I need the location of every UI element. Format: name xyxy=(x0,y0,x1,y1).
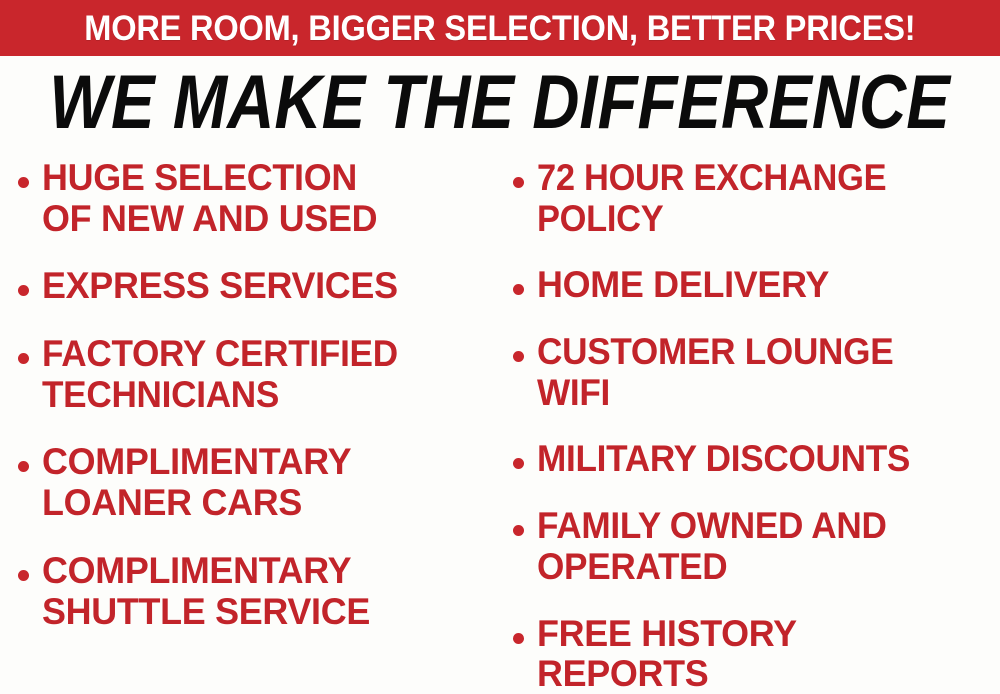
bullet-dot-icon xyxy=(513,351,524,362)
bullet-dot-icon xyxy=(513,633,524,644)
benefit-label: HOME DELIVERY xyxy=(537,265,829,306)
header-banner-text: MORE ROOM, BIGGER SELECTION, BETTER PRIC… xyxy=(84,11,915,46)
list-item: FACTORY CERTIFIED TECHNICIANS xyxy=(18,334,496,415)
benefit-label: FACTORY CERTIFIED TECHNICIANS xyxy=(42,334,398,415)
benefit-label: EXPRESS SERVICES xyxy=(42,266,398,307)
list-item: HUGE SELECTION OF NEW AND USED xyxy=(18,158,496,239)
benefit-label: MILITARY DISCOUNTS xyxy=(537,439,910,480)
benefit-label: FREE HISTORY REPORTS xyxy=(537,614,797,694)
list-item: 72 HOUR EXCHANGE POLICY xyxy=(513,158,1000,239)
page-title: WE MAKE THE DIFFERENCE xyxy=(50,65,951,141)
benefits-column-left: HUGE SELECTION OF NEW AND USED EXPRESS S… xyxy=(18,158,496,659)
benefit-label: 72 HOUR EXCHANGE POLICY xyxy=(537,158,886,239)
list-item: MILITARY DISCOUNTS xyxy=(513,439,1000,480)
bullet-dot-icon xyxy=(513,177,524,188)
bullet-dot-icon xyxy=(513,284,524,295)
list-item: HOME DELIVERY xyxy=(513,265,1000,306)
benefit-label: COMPLIMENTARY LOANER CARS xyxy=(42,442,351,523)
benefits-columns: HUGE SELECTION OF NEW AND USED EXPRESS S… xyxy=(0,158,1000,694)
list-item: COMPLIMENTARY LOANER CARS xyxy=(18,442,496,523)
benefit-label: HUGE SELECTION OF NEW AND USED xyxy=(42,158,377,239)
benefit-label: CUSTOMER LOUNGE WIFI xyxy=(537,332,893,413)
list-item: CUSTOMER LOUNGE WIFI xyxy=(513,332,1000,413)
bullet-dot-icon xyxy=(18,177,29,188)
list-item: FREE HISTORY REPORTS xyxy=(513,614,1000,694)
list-item: FAMILY OWNED AND OPERATED xyxy=(513,506,1000,587)
benefit-label: FAMILY OWNED AND OPERATED xyxy=(537,506,887,587)
bullet-dot-icon xyxy=(18,353,29,364)
benefit-label: COMPLIMENTARY SHUTTLE SERVICE xyxy=(42,551,370,632)
bullet-dot-icon xyxy=(18,570,29,581)
headline-container: WE MAKE THE DIFFERENCE xyxy=(0,62,1000,144)
bullet-dot-icon xyxy=(513,525,524,536)
benefits-column-right: 72 HOUR EXCHANGE POLICY HOME DELIVERY CU… xyxy=(513,158,1000,694)
list-item: COMPLIMENTARY SHUTTLE SERVICE xyxy=(18,551,496,632)
bullet-dot-icon xyxy=(18,285,29,296)
bullet-dot-icon xyxy=(18,461,29,472)
list-item: EXPRESS SERVICES xyxy=(18,266,496,307)
promo-poster: MORE ROOM, BIGGER SELECTION, BETTER PRIC… xyxy=(0,0,1000,694)
bullet-dot-icon xyxy=(513,458,524,469)
header-banner: MORE ROOM, BIGGER SELECTION, BETTER PRIC… xyxy=(0,0,1000,56)
